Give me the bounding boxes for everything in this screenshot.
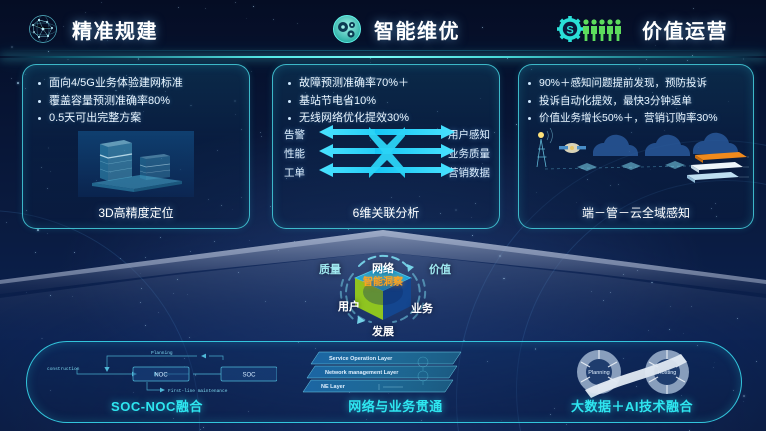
six-dimension-cross-arrows-diagram: 告警 性能 工单 用户感知 业务质量 营销数据 — [273, 125, 499, 191]
flow-edge-first-line-maintenance: First-line maintenance — [168, 388, 228, 394]
layer-label-network-management: Network management Layer — [325, 370, 399, 376]
card-3-bullet-list: 90%＋感知问题提前发现，预防投诉 投诉自动化提效，最快3分钟返单 价值业务增长… — [519, 65, 753, 128]
list-item: 基站节电省10% — [287, 93, 491, 111]
card-precision-planning[interactable]: 面向4/5G业务体验建网标准 覆盖容量预测准确率80% 0.5天可出完整方案 — [22, 64, 250, 229]
money-gear-people-icon: S — [557, 16, 631, 42]
card-2-bullet-list: 故障预测准确率70%＋ 基站节电省10% 无线网络优化提效30% — [273, 65, 499, 128]
header-section-operation: S 价值运营 — [519, 15, 766, 44]
card-3-caption: 端－管－云全域感知 — [519, 204, 753, 221]
layer-stack-diagram: Service Operation Layer Network manageme… — [283, 346, 508, 398]
network-globe-icon — [25, 11, 61, 47]
cube-core-label-intelligent-insight: 智能洞察 — [363, 277, 403, 288]
bottom-caption-soc-noc: SOC-NOC融合 — [37, 396, 277, 415]
soc-noc-flow-diagram: NOC SOC Planning construction First-line… — [37, 346, 277, 398]
card-intelligent-maintenance[interactable]: 故障预测准确率70%＋ 基站节电省10% 无线网络优化提效30% 告警 性能 工… — [272, 64, 500, 229]
header-title-maintenance: 智能维优 — [374, 15, 460, 44]
layer-label-ne: NE Layer — [321, 384, 346, 390]
bottom-section-bigdata-ai[interactable]: Planning Hosting 大数据＋AI技术融合 — [527, 342, 737, 422]
intelligent-insight-cube-diagram: 质量 价值 发展 网络 用户 业务 智能洞察 — [313, 248, 453, 340]
header-divider-faint — [0, 50, 766, 51]
card-value-operation[interactable]: 90%＋感知问题提前发现，预防投诉 投诉自动化提效，最快3分钟返单 价值业务增长… — [518, 64, 754, 229]
bottom-section-network-service[interactable]: Service Operation Layer Network manageme… — [283, 342, 508, 422]
list-item: 投诉自动化提效，最快3分钟返单 — [527, 93, 745, 111]
cube-face-label-business: 业务 — [411, 300, 433, 316]
terminal-pipe-cloud-icon — [525, 123, 749, 191]
cube-outer-label-development: 发展 — [372, 323, 394, 339]
list-item: 面向4/5G业务体验建网标准 — [37, 75, 241, 93]
list-item: 90%＋感知问题提前发现，预防投诉 — [527, 75, 745, 93]
card-2-caption: 6维关联分析 — [273, 204, 499, 221]
flow-edge-construction: construction — [47, 366, 80, 372]
loop-label-planning: Planning — [588, 370, 609, 376]
cube-outer-label-quality: 质量 — [319, 261, 341, 277]
list-item: 覆盖容量预测准确率80% — [37, 93, 241, 111]
cube-outer-label-value: 价值 — [429, 261, 451, 277]
header-title-operation: 价值运营 — [642, 15, 728, 44]
header-section-maintenance: 智能维优 — [272, 13, 519, 45]
card-1-bullet-list: 面向4/5G业务体验建网标准 覆盖容量预测准确率80% 0.5天可出完整方案 — [23, 65, 249, 128]
bottom-caption-network-service: 网络与业务贯通 — [283, 396, 508, 415]
flow-edge-planning: Planning — [151, 350, 173, 356]
layer-label-service-operation: Service Operation Layer — [329, 356, 393, 362]
bottom-caption-bigdata-ai: 大数据＋AI技术融合 — [527, 396, 737, 415]
bottom-section-soc-noc[interactable]: NOC SOC Planning construction First-line… — [37, 342, 277, 422]
header-divider-glow — [0, 56, 766, 58]
gears-circle-icon — [331, 13, 363, 45]
foundation-panel: NOC SOC Planning construction First-line… — [26, 341, 742, 423]
flow-node-soc: SOC — [242, 373, 256, 379]
card-1-caption: 3D高精度定位 — [23, 204, 249, 221]
header-title-planning: 精准规建 — [72, 15, 158, 44]
list-item: 0.5天可出完整方案 — [37, 110, 241, 128]
cube-face-label-network: 网络 — [372, 260, 394, 276]
3d-building-model-icon — [78, 131, 194, 197]
flow-node-noc: NOC — [154, 373, 168, 379]
devops-infinity-loop-diagram: Planning Hosting — [527, 346, 737, 398]
list-item: 故障预测准确率70%＋ — [287, 75, 491, 93]
feature-cards: 面向4/5G业务体验建网标准 覆盖容量预测准确率80% 0.5天可出完整方案 — [0, 64, 766, 232]
header-section-planning: 精准规建 — [0, 11, 272, 47]
svg-text:S: S — [566, 24, 573, 36]
cube-face-label-user: 用户 — [338, 298, 360, 314]
